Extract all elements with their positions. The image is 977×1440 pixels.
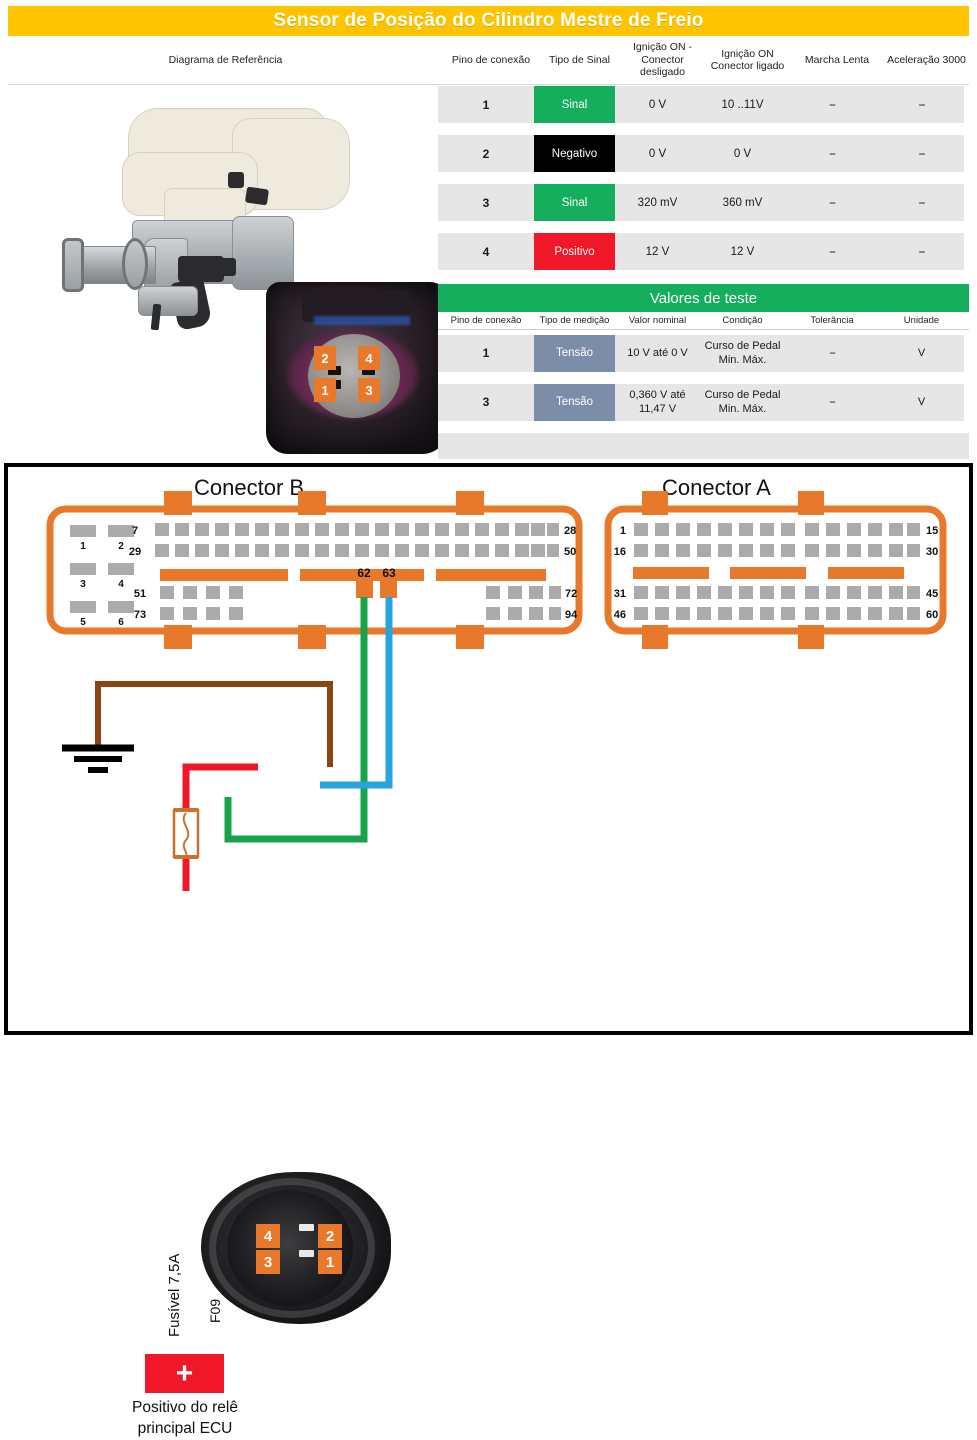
table-column-headers: Diagrama de Referência Pino de conexão T… — [8, 36, 969, 85]
connector-a-housing — [608, 491, 943, 649]
test-values-empty-row — [438, 433, 969, 459]
pin-label: 30 — [926, 546, 938, 558]
pin-label: 73 — [134, 609, 146, 621]
cell-ign-off: 12 V — [615, 233, 700, 270]
vt-cell-tolerance: -- — [785, 335, 879, 372]
connector-cavity — [227, 1190, 353, 1306]
cell-accel: -- — [879, 86, 964, 123]
vt-header-nominal: Valor nominal — [615, 312, 700, 329]
connector-b-row1-pins — [155, 523, 559, 536]
connector-b-row2-pins — [155, 544, 559, 557]
sensor-pin-badge-4: 4 — [256, 1224, 280, 1248]
page-title: Sensor de Posição do Cilindro Mestre de … — [273, 10, 703, 32]
cell-accel: -- — [879, 135, 964, 172]
cell-accel: -- — [879, 184, 964, 221]
cell-pin: 2 — [438, 135, 534, 172]
pin-label: 28 — [564, 525, 576, 537]
cell-ign-on: 360 mV — [700, 184, 785, 221]
sensor-connector-photo-bottom — [201, 1172, 391, 1324]
pin-label: 16 — [614, 546, 626, 558]
pin-label: 7 — [132, 525, 138, 537]
ground-symbol — [62, 748, 134, 770]
cell-idle: -- — [785, 233, 879, 270]
specification-panel: Sensor de Posição do Cilindro Mestre de … — [0, 0, 977, 462]
table-row: 1 Sinal 0 V 10 ..11V -- -- — [438, 86, 969, 123]
wiring-diagram-panel: Conector B Conector A — [4, 463, 973, 1035]
sensor-pin-badge-3: 3 — [256, 1250, 280, 1274]
pin-label: 72 — [565, 588, 577, 600]
column-header-accel: Aceleração 3000 — [884, 36, 969, 84]
cell-idle: -- — [785, 86, 879, 123]
vt-cell-nominal: 10 V até 0 V — [615, 335, 700, 372]
connector-a-row2-pins — [634, 544, 920, 557]
test-values-title: Valores de teste — [438, 284, 969, 312]
pin-label: 46 — [614, 609, 626, 621]
positive-supply-box: + — [145, 1354, 224, 1393]
pin-label: 2 — [118, 541, 124, 552]
signal-type-chip: Sinal — [534, 184, 615, 221]
fuse-rating-label: Fusível 7,5A — [166, 1254, 183, 1337]
cell-ign-off: 320 mV — [615, 184, 700, 221]
wiring-schematic-svg: 1 2 3 4 5 6 — [8, 467, 977, 1039]
cell-pin: 3 — [438, 184, 534, 221]
pin-label: 60 — [926, 609, 938, 621]
vt-cell-pin: 1 — [438, 335, 534, 372]
sensor-connector-photo: 2 4 1 3 — [266, 282, 438, 454]
vt-cell-nominal: 0,360 V até 11,47 V — [615, 384, 700, 421]
column-header-diagram: Diagrama de Referência — [8, 36, 443, 84]
pin-label: 45 — [926, 588, 938, 600]
measure-type-chip: Tensão — [534, 335, 615, 372]
signal-values-table: 1 Sinal 0 V 10 ..11V -- -- 2 Negativo 0 … — [438, 86, 969, 282]
column-header-signal-type: Tipo de Sinal — [539, 36, 620, 84]
connector-a-row4-pins — [634, 607, 920, 620]
reference-diagram-cell: 2 4 1 3 — [8, 86, 438, 460]
vt-header-tolerance: Tolerância — [785, 312, 879, 329]
cell-ign-on: 10 ..11V — [700, 86, 785, 123]
relay-caption: Positivo do relê principal ECU — [98, 1398, 272, 1440]
terminal-63 — [380, 580, 397, 598]
measure-type-chip: Tensão — [534, 384, 615, 421]
terminal-62 — [356, 580, 373, 598]
pin-label: 50 — [564, 546, 576, 558]
table-row: 3 Sinal 320 mV 360 mV -- -- — [438, 184, 969, 221]
plus-symbol: + — [176, 1359, 194, 1389]
relay-caption-line2: principal ECU — [98, 1419, 272, 1440]
photo-pin-badge-4: 4 — [358, 346, 380, 370]
pin-label: 1 — [80, 541, 86, 552]
cell-pin: 1 — [438, 86, 534, 123]
column-header-ign-off: Ignição ON - Conector desligado — [620, 36, 705, 84]
vt-header-measure: Tipo de medição — [534, 312, 615, 329]
cell-type: Sinal — [534, 86, 615, 123]
wire-red-positive-top — [186, 767, 258, 810]
cell-pin: 4 — [438, 233, 534, 270]
cell-idle: -- — [785, 135, 879, 172]
connector-b-left-pin-block — [70, 525, 134, 613]
fuse-symbol — [174, 810, 198, 857]
signal-type-chip: Negativo — [534, 135, 615, 172]
cell-ign-on: 12 V — [700, 233, 785, 270]
pin-label: 94 — [565, 609, 578, 621]
cell-type: Sinal — [534, 184, 615, 221]
test-row: 3 Tensão 0,360 V até 11,47 V Curso de Pe… — [438, 384, 969, 421]
pin-label: 29 — [129, 546, 141, 558]
cell-accel: -- — [879, 233, 964, 270]
vt-cell-condition: Curso de Pedal Min. Máx. — [700, 335, 785, 372]
cell-ign-off: 0 V — [615, 135, 700, 172]
table-row: 4 Positivo 12 V 12 V -- -- — [438, 233, 969, 270]
vt-header-condition: Condição — [700, 312, 785, 329]
pin-label: 63 — [382, 566, 396, 580]
signal-type-chip: Positivo — [534, 233, 615, 270]
cell-type: Negativo — [534, 135, 615, 172]
cell-type: Positivo — [534, 233, 615, 270]
page-title-bar: Sensor de Posição do Cilindro Mestre de … — [8, 6, 969, 36]
sensor-pin-badge-2: 2 — [318, 1224, 342, 1248]
cell-idle: -- — [785, 184, 879, 221]
table-row: 2 Negativo 0 V 0 V -- -- — [438, 135, 969, 172]
vt-cell-measure: Tensão — [534, 384, 615, 421]
column-header-ign-on: Ignição ON Conector ligado — [705, 36, 790, 84]
pin-label: 31 — [614, 588, 626, 600]
connector-a-row3-pins — [634, 586, 920, 599]
connector-b-left-pin-numbers: 1 2 3 4 5 6 — [80, 541, 124, 628]
pin-label: 1 — [620, 525, 626, 537]
column-header-pin: Pino de conexão — [443, 36, 539, 84]
vt-cell-unit: V — [879, 335, 964, 372]
vt-cell-pin: 3 — [438, 384, 534, 421]
relay-caption-line1: Positivo do relê — [98, 1398, 272, 1419]
cell-ign-on: 0 V — [700, 135, 785, 172]
test-values-table: Valores de teste Pino de conexão Tipo de… — [438, 284, 969, 459]
pin-label: 62 — [357, 566, 371, 580]
pin-label: 3 — [80, 579, 86, 590]
vt-cell-tolerance: -- — [785, 384, 879, 421]
test-values-headers: Pino de conexão Tipo de medição Valor no… — [438, 312, 969, 330]
column-header-idle: Marcha Lenta — [790, 36, 884, 84]
photo-pin-badge-2: 2 — [314, 346, 336, 370]
vt-cell-measure: Tensão — [534, 335, 615, 372]
pin-label: 4 — [118, 579, 124, 590]
cell-ign-off: 0 V — [615, 86, 700, 123]
pin-label: 15 — [926, 525, 938, 537]
wire-brown-ground — [98, 684, 330, 767]
pin-label: 6 — [118, 617, 124, 628]
vt-cell-unit: V — [879, 384, 964, 421]
test-row: 1 Tensão 10 V até 0 V Curso de Pedal Min… — [438, 335, 969, 372]
pin-label: 5 — [80, 617, 86, 628]
pin-label: 51 — [134, 588, 146, 600]
photo-pin-badge-1: 1 — [314, 378, 336, 402]
connector-blue-strip — [314, 316, 410, 325]
vt-header-pin: Pino de conexão — [438, 312, 534, 329]
photo-pin-badge-3: 3 — [358, 378, 380, 402]
vt-cell-condition: Curso de Pedal Min. Máx. — [700, 384, 785, 421]
fuse-id-label: F09 — [207, 1299, 223, 1323]
sensor-pin-badge-1: 1 — [318, 1250, 342, 1274]
signal-type-chip: Sinal — [534, 86, 615, 123]
connector-a-row1-pins — [634, 523, 920, 536]
vt-header-unit: Unidade — [879, 312, 964, 329]
